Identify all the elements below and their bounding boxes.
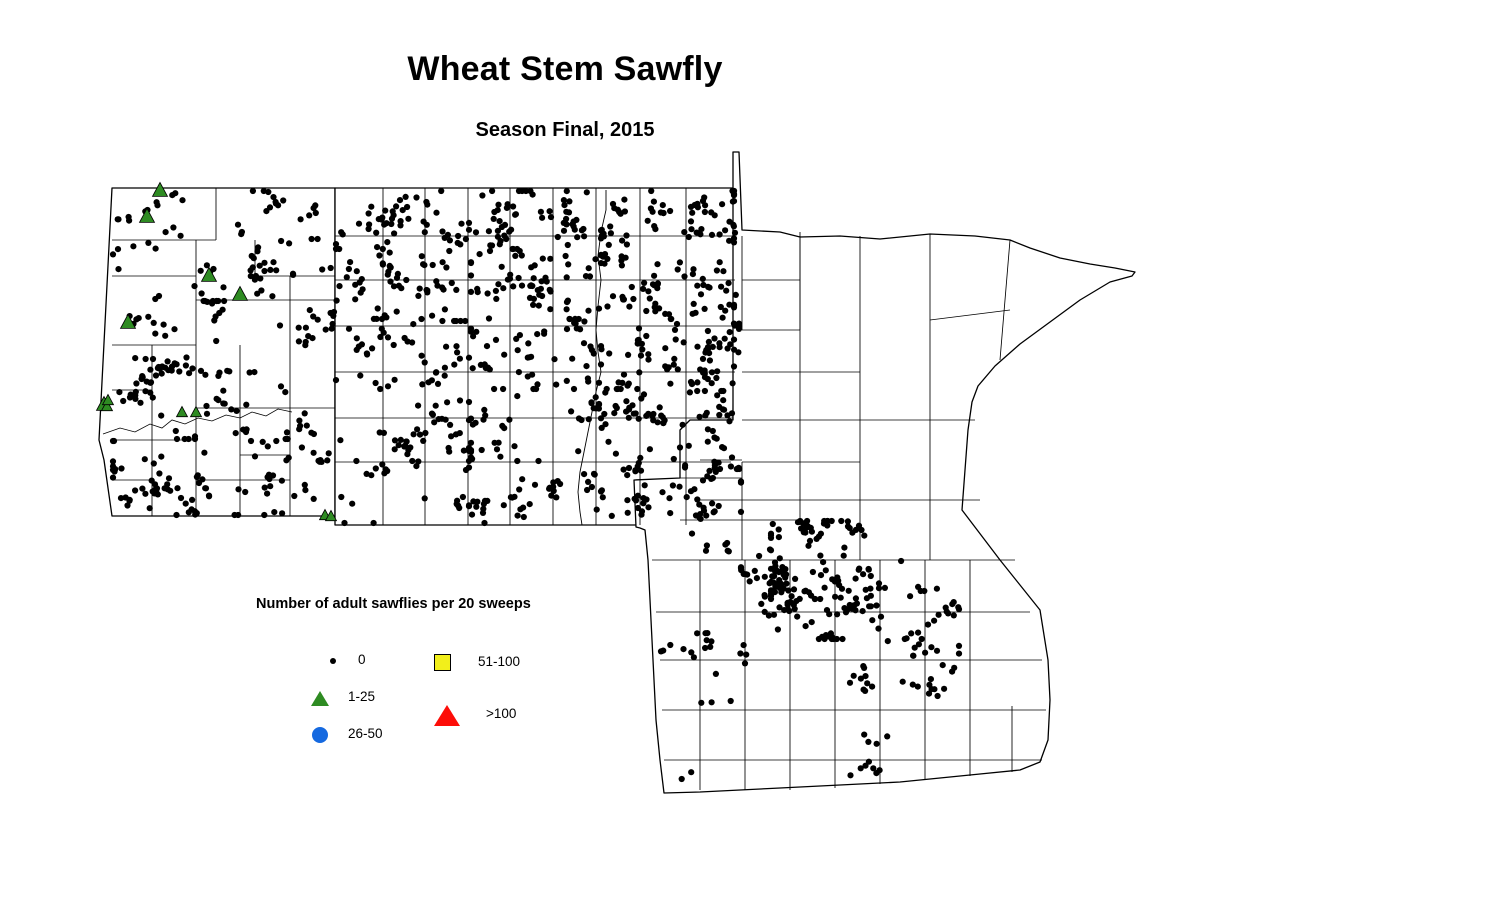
sample-point-zero bbox=[727, 329, 733, 335]
sample-point-zero bbox=[154, 202, 160, 208]
sample-point-zero bbox=[720, 397, 726, 403]
sample-point-zero bbox=[453, 431, 459, 437]
sample-point-zero bbox=[694, 344, 700, 350]
sample-point-zero bbox=[956, 651, 962, 657]
sample-point-zero bbox=[164, 481, 170, 487]
sample-point-zero bbox=[797, 596, 803, 602]
map-legend: Number of adult sawflies per 20 sweeps 0… bbox=[256, 596, 656, 756]
sample-point-zero bbox=[655, 281, 661, 287]
sample-point-zero bbox=[689, 210, 695, 216]
sample-point-zero bbox=[574, 234, 580, 240]
sample-point-zero bbox=[273, 267, 279, 273]
sample-point-zero bbox=[824, 607, 830, 613]
sample-point-zero bbox=[183, 354, 189, 360]
sample-point-zero bbox=[492, 440, 498, 446]
sample-point-zero bbox=[265, 474, 271, 480]
sample-point-zero bbox=[705, 439, 711, 445]
sample-point-zero bbox=[624, 497, 630, 503]
sample-point-zero bbox=[379, 215, 385, 221]
sample-point-zero bbox=[704, 410, 710, 416]
sample-point-zero bbox=[501, 502, 507, 508]
sample-point-zero bbox=[516, 188, 522, 194]
sample-point-zero bbox=[866, 567, 872, 573]
sample-point-zero bbox=[832, 594, 838, 600]
sample-point-zero bbox=[420, 261, 426, 267]
sample-point-zero bbox=[564, 326, 570, 332]
sample-point-zero bbox=[493, 288, 499, 294]
sample-point-zero bbox=[847, 525, 853, 531]
sample-point-zero bbox=[601, 233, 607, 239]
sample-point-zero bbox=[707, 644, 713, 650]
sample-point-zero bbox=[238, 231, 244, 237]
sample-point-zero bbox=[771, 612, 777, 618]
sample-point-zero bbox=[179, 197, 185, 203]
sample-point-zero bbox=[261, 188, 267, 194]
sample-point-zero bbox=[702, 630, 708, 636]
sample-point-zero bbox=[473, 329, 479, 335]
sample-point-zero bbox=[682, 462, 688, 468]
sample-point-zero bbox=[639, 346, 645, 352]
sample-point-zero bbox=[191, 283, 197, 289]
sample-point-zero bbox=[392, 377, 398, 383]
sample-point-zero bbox=[698, 700, 704, 706]
sample-point-zero bbox=[846, 588, 852, 594]
sample-point-zero bbox=[636, 416, 642, 422]
sample-point-zero bbox=[194, 474, 200, 480]
sample-point-zero bbox=[250, 264, 256, 270]
sample-point-zero bbox=[475, 289, 481, 295]
sample-point-zero bbox=[307, 307, 313, 313]
sample-point-zero bbox=[253, 273, 259, 279]
sample-point-zero bbox=[688, 488, 694, 494]
sample-point-zero bbox=[690, 266, 696, 272]
sample-point-zero bbox=[525, 373, 531, 379]
sample-point-zero bbox=[508, 227, 514, 233]
sample-point-zero bbox=[536, 292, 542, 298]
sample-point-zero bbox=[619, 238, 625, 244]
sample-point-zero bbox=[928, 644, 934, 650]
sample-point-zero bbox=[453, 287, 459, 293]
sample-point-zero bbox=[315, 236, 321, 242]
sample-point-zero bbox=[606, 242, 612, 248]
sample-point-zero bbox=[149, 478, 155, 484]
sample-point-zero bbox=[758, 601, 764, 607]
sample-point-zero bbox=[648, 205, 654, 211]
sample-point-zero bbox=[708, 209, 714, 215]
sample-point-zero bbox=[592, 256, 598, 262]
sample-point-zero bbox=[657, 404, 663, 410]
sample-point-zero bbox=[235, 486, 241, 492]
sample-point-zero bbox=[694, 388, 700, 394]
sample-point-zero bbox=[364, 471, 370, 477]
sample-point-zero bbox=[648, 188, 654, 194]
sample-point-zero bbox=[555, 234, 561, 240]
sample-point-zero bbox=[643, 308, 649, 314]
sample-point-zero bbox=[907, 593, 913, 599]
sample-point-zero bbox=[671, 456, 677, 462]
sample-point-zero bbox=[366, 210, 372, 216]
sample-point-zero bbox=[183, 362, 189, 368]
sample-point-zero bbox=[674, 321, 680, 327]
sample-point-zero bbox=[203, 403, 209, 409]
sample-point-zero bbox=[489, 188, 495, 194]
sample-point-zero bbox=[526, 354, 532, 360]
sample-point-zero bbox=[270, 194, 276, 200]
sample-point-zero bbox=[660, 420, 666, 426]
sample-point-zero bbox=[196, 480, 202, 486]
sample-point-zero bbox=[610, 293, 616, 299]
sample-point-zero bbox=[495, 207, 501, 213]
sample-point-zero bbox=[424, 202, 430, 208]
sample-point-zero bbox=[319, 266, 325, 272]
sample-point-zero bbox=[267, 204, 273, 210]
sample-point-zero bbox=[709, 500, 715, 506]
sample-point-zero bbox=[126, 218, 132, 224]
sample-point-zero bbox=[359, 276, 365, 282]
sample-point-zero bbox=[718, 388, 724, 394]
sample-point-zero bbox=[868, 603, 874, 609]
sample-point-zero bbox=[564, 188, 570, 194]
sample-point-zero bbox=[686, 443, 692, 449]
sample-point-zero bbox=[807, 538, 813, 544]
sample-point-zero bbox=[192, 436, 198, 442]
sample-point-zero bbox=[694, 230, 700, 236]
sample-point-zero bbox=[547, 256, 553, 262]
sample-point-zero bbox=[711, 509, 717, 515]
sample-point-zero bbox=[163, 229, 169, 235]
sample-point-zero bbox=[666, 364, 672, 370]
sample-point-zero bbox=[434, 283, 440, 289]
sample-point-zero bbox=[587, 273, 593, 279]
sample-point-zero bbox=[677, 259, 683, 265]
sample-point-zero bbox=[662, 345, 668, 351]
sample-point-zero bbox=[839, 636, 845, 642]
sample-point-zero bbox=[171, 326, 177, 332]
sample-point-zero bbox=[280, 197, 286, 203]
sample-point-zero bbox=[278, 238, 284, 244]
sample-point-zero bbox=[115, 216, 121, 222]
sample-point-zero bbox=[731, 302, 737, 308]
sample-point-zero bbox=[323, 327, 329, 333]
sample-point-zero bbox=[860, 608, 866, 614]
sample-point-zero bbox=[417, 432, 423, 438]
sample-point-zero bbox=[512, 212, 518, 218]
sample-point-zero bbox=[387, 250, 393, 256]
sample-point-zero bbox=[791, 602, 797, 608]
sample-point-zero bbox=[336, 283, 342, 289]
sample-point-zero bbox=[667, 642, 673, 648]
sample-point-zero bbox=[145, 314, 151, 320]
sample-point-zero bbox=[533, 386, 539, 392]
sample-point-zero bbox=[951, 665, 957, 671]
sample-point-zero bbox=[936, 612, 942, 618]
sample-point-zero bbox=[645, 504, 651, 510]
sample-point-zero bbox=[352, 296, 358, 302]
sample-point-zero bbox=[151, 460, 157, 466]
sample-point-zero bbox=[424, 222, 430, 228]
sample-point-zero bbox=[501, 233, 507, 239]
sample-point-zero bbox=[189, 497, 195, 503]
sample-point-zero bbox=[810, 569, 816, 575]
sample-point-zero bbox=[254, 291, 260, 297]
sample-point-zero bbox=[875, 626, 881, 632]
sample-point-zero bbox=[495, 202, 501, 208]
sample-point-zero bbox=[251, 369, 257, 375]
sample-point-zero bbox=[198, 368, 204, 374]
sample-point-zero bbox=[438, 188, 444, 194]
sample-point-zero bbox=[286, 455, 292, 461]
sample-point-zero bbox=[940, 662, 946, 668]
sample-point-zero bbox=[234, 408, 240, 414]
sample-point-zero bbox=[598, 488, 604, 494]
sample-point-zero bbox=[391, 342, 397, 348]
sample-point-zero bbox=[817, 553, 823, 559]
sample-point-zero bbox=[133, 316, 139, 322]
sample-point-zero bbox=[380, 246, 386, 252]
sample-point-zero bbox=[652, 226, 658, 232]
sample-point-zero bbox=[616, 379, 622, 385]
sample-point-zero bbox=[866, 759, 872, 765]
sample-point-zero bbox=[500, 285, 506, 291]
sample-point-zero bbox=[279, 510, 285, 516]
sample-point-zero bbox=[626, 465, 632, 471]
sample-point-zero bbox=[454, 349, 460, 355]
sample-point-zero bbox=[470, 365, 476, 371]
sample-point-zero bbox=[728, 463, 734, 469]
sample-point-zero bbox=[220, 284, 226, 290]
sample-point-zero bbox=[530, 192, 536, 198]
sample-point-zero bbox=[420, 438, 426, 444]
sample-point-zero bbox=[466, 399, 472, 405]
sample-point-zero bbox=[479, 192, 485, 198]
sample-point-zero bbox=[651, 273, 657, 279]
sample-point-zero bbox=[132, 487, 138, 493]
sample-point-zero bbox=[629, 402, 635, 408]
sample-point-zero bbox=[433, 370, 439, 376]
sample-point-zero bbox=[183, 501, 189, 507]
sample-point-zero bbox=[608, 230, 614, 236]
sample-point-zero bbox=[553, 382, 559, 388]
sample-point-zero bbox=[469, 511, 475, 517]
sample-point-zero bbox=[337, 437, 343, 443]
sample-point-zero bbox=[356, 221, 362, 227]
sample-point-zero bbox=[285, 436, 291, 442]
sample-point-zero bbox=[572, 227, 578, 233]
sample-point-zero bbox=[638, 395, 644, 401]
sample-point-zero bbox=[639, 508, 645, 514]
sample-point-zero bbox=[725, 345, 731, 351]
sample-point-zero bbox=[586, 265, 592, 271]
sample-point-zero bbox=[861, 533, 867, 539]
sample-point-zero bbox=[863, 587, 869, 593]
sample-point-zero bbox=[302, 482, 308, 488]
sample-point-zero bbox=[499, 423, 505, 429]
sample-point-zero bbox=[333, 241, 339, 247]
sample-point-zero bbox=[767, 580, 773, 586]
sample-point-zero bbox=[736, 466, 742, 472]
sample-point-zero bbox=[439, 318, 445, 324]
sample-point-zero bbox=[620, 296, 626, 302]
sample-point-zero bbox=[147, 505, 153, 511]
sample-point-zero bbox=[444, 399, 450, 405]
sample-point-zero bbox=[638, 468, 644, 474]
sample-point-zero bbox=[600, 494, 606, 500]
sample-point-zero bbox=[510, 283, 516, 289]
sample-point-zero bbox=[652, 308, 658, 314]
sample-point-zero bbox=[704, 637, 710, 643]
sample-point-zero bbox=[162, 333, 168, 339]
sample-point-zero bbox=[532, 262, 538, 268]
sample-point-zero bbox=[830, 636, 836, 642]
sample-point-zero bbox=[512, 253, 518, 259]
sample-point-zero bbox=[594, 507, 600, 513]
sample-point-zero bbox=[384, 239, 390, 245]
sample-point-zero bbox=[501, 352, 507, 358]
sample-point-zero bbox=[431, 419, 437, 425]
sample-point-zero bbox=[331, 309, 337, 315]
sample-point-zero bbox=[377, 334, 383, 340]
sample-point-zero bbox=[584, 487, 590, 493]
sample-point-zero bbox=[515, 347, 521, 353]
sample-point-zero bbox=[466, 458, 472, 464]
sample-point-zero bbox=[430, 412, 436, 418]
sample-point-zero bbox=[531, 275, 537, 281]
sample-point-zero bbox=[466, 220, 472, 226]
sample-point-zero bbox=[260, 439, 266, 445]
sample-point-zero bbox=[571, 320, 577, 326]
sample-point-zero bbox=[178, 233, 184, 239]
sample-point-zero bbox=[789, 593, 795, 599]
sample-point-zero bbox=[374, 244, 380, 250]
sample-point-zero bbox=[500, 386, 506, 392]
sample-point-zero bbox=[847, 772, 853, 778]
sample-point-zero bbox=[344, 274, 350, 280]
sample-point-zero bbox=[442, 373, 448, 379]
sample-point-zero bbox=[571, 386, 577, 392]
sample-point-zero bbox=[722, 227, 728, 233]
sample-point-zero bbox=[723, 288, 729, 294]
sample-point-zero bbox=[449, 280, 455, 286]
sample-point-zero bbox=[110, 251, 116, 257]
sample-point-zero bbox=[941, 686, 947, 692]
sample-point-zero bbox=[696, 514, 702, 520]
sample-point-zero bbox=[403, 277, 409, 283]
sample-point-zero bbox=[388, 264, 394, 270]
sample-point-zero bbox=[711, 434, 717, 440]
sample-point-zero bbox=[834, 611, 840, 617]
sample-point-zero bbox=[297, 423, 303, 429]
sample-point-zero bbox=[173, 512, 179, 518]
sample-point-zero bbox=[139, 376, 145, 382]
sample-point-zero bbox=[868, 573, 874, 579]
sample-point-zero bbox=[115, 266, 121, 272]
sample-point-zero bbox=[312, 202, 318, 208]
sample-point-zero bbox=[446, 445, 452, 451]
sample-point-zero bbox=[306, 212, 312, 218]
sample-point-zero bbox=[713, 375, 719, 381]
sample-point-zero bbox=[198, 268, 204, 274]
sample-point-zero bbox=[736, 323, 742, 329]
sample-point-zero bbox=[838, 595, 844, 601]
sample-point-zero bbox=[691, 301, 697, 307]
sample-point-zero bbox=[686, 234, 692, 240]
sample-point-zero bbox=[689, 531, 695, 537]
sample-point-zero bbox=[645, 288, 651, 294]
sample-point-zero bbox=[468, 272, 474, 278]
sample-point-zero bbox=[174, 361, 180, 367]
sample-point-zero bbox=[443, 264, 449, 270]
sample-point-zero bbox=[593, 394, 599, 400]
sample-point-zero bbox=[199, 290, 205, 296]
sample-point-zero bbox=[462, 318, 468, 324]
sample-point-zero bbox=[679, 776, 685, 782]
sample-point-zero bbox=[626, 415, 632, 421]
sample-point-zero bbox=[839, 586, 845, 592]
sample-point-zero bbox=[730, 222, 736, 228]
sample-point-zero bbox=[934, 586, 940, 592]
sample-point-zero bbox=[413, 194, 419, 200]
sample-point-zero bbox=[705, 284, 711, 290]
sample-point-zero bbox=[514, 393, 520, 399]
sample-point-zero bbox=[636, 337, 642, 343]
sample-point-zero bbox=[385, 272, 391, 278]
sample-point-zero bbox=[704, 542, 710, 548]
sample-point-zero bbox=[698, 291, 704, 297]
sample-point-zero bbox=[794, 614, 800, 620]
sample-point-zero bbox=[525, 340, 531, 346]
sample-point-zero bbox=[613, 451, 619, 457]
sample-point-zero bbox=[221, 298, 227, 304]
sample-point-zero bbox=[265, 443, 271, 449]
sample-point-zero bbox=[491, 216, 497, 222]
sample-point-zero bbox=[220, 388, 226, 394]
sample-point-zero bbox=[770, 521, 776, 527]
sample-point-zero bbox=[776, 569, 782, 575]
sample-point-zero bbox=[214, 298, 220, 304]
sample-point-zero bbox=[752, 568, 758, 574]
sample-point-zero bbox=[139, 486, 145, 492]
sample-point-zero bbox=[411, 431, 417, 437]
sample-point-zero bbox=[493, 296, 499, 302]
legend-label-0: 0 bbox=[358, 652, 366, 667]
sample-point-zero bbox=[271, 509, 277, 515]
sample-point-zero bbox=[900, 679, 906, 685]
sample-point-zero bbox=[847, 680, 853, 686]
sample-point-zero bbox=[334, 298, 340, 304]
sample-point-zero bbox=[641, 280, 647, 286]
sample-point-zero bbox=[387, 279, 393, 285]
sample-point-zero bbox=[792, 576, 798, 582]
sample-point-zero bbox=[651, 199, 657, 205]
sample-point-zero bbox=[934, 648, 940, 654]
sample-point-zero bbox=[380, 260, 386, 266]
sample-point-zero bbox=[516, 486, 522, 492]
sample-point-zero bbox=[284, 429, 290, 435]
state-county-map bbox=[0, 0, 1503, 900]
sample-point-zero bbox=[712, 462, 718, 468]
sample-point-zero bbox=[714, 267, 720, 273]
sample-point-zero bbox=[261, 268, 267, 274]
sample-point-zero bbox=[457, 356, 463, 362]
sample-point-zero bbox=[688, 218, 694, 224]
sample-point-zero bbox=[394, 309, 400, 315]
sample-point-zero bbox=[353, 458, 359, 464]
sample-point-zero bbox=[720, 406, 726, 412]
sample-point-zero bbox=[463, 467, 469, 473]
sample-point-zero bbox=[690, 311, 696, 317]
sample-point-zero bbox=[706, 339, 712, 345]
sample-point-zero bbox=[783, 581, 789, 587]
